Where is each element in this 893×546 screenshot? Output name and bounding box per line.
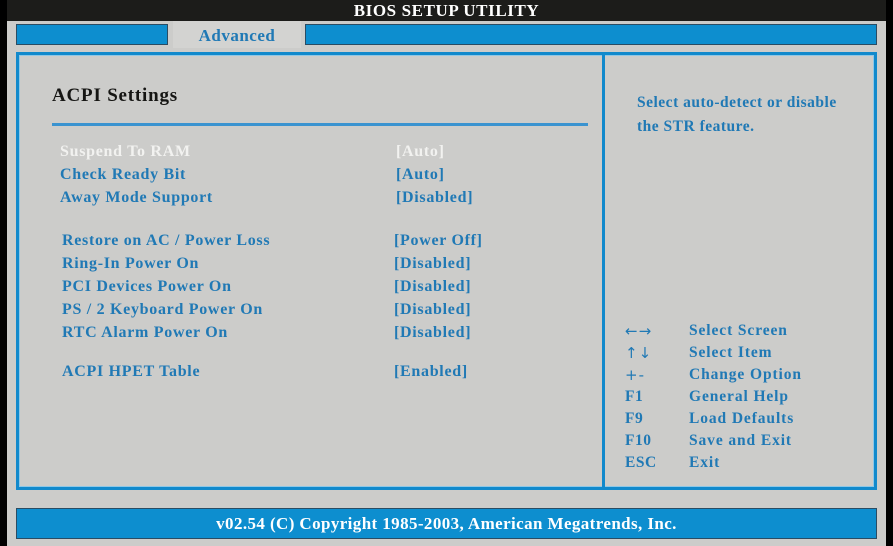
settings-group-1: Suspend To RAM[Auto]Check Ready Bit[Auto…: [52, 143, 592, 212]
setting-value[interactable]: [Disabled]: [396, 189, 473, 207]
key-legend-key: F10: [625, 432, 683, 450]
setting-label: ACPI HPET Table: [62, 363, 200, 381]
key-legend-row: F10Save and Exit: [625, 432, 873, 454]
setting-row[interactable]: Ring-In Power On[Disabled]: [52, 255, 592, 278]
key-legend-row: ↑↓Select Item: [625, 344, 873, 366]
setting-label: Ring-In Power On: [62, 255, 199, 273]
key-legend-key: ←→: [625, 322, 683, 340]
tab-strip: Advanced: [7, 21, 886, 48]
key-legend-description: Change Option: [689, 366, 802, 384]
setting-value[interactable]: [Enabled]: [394, 363, 468, 381]
setting-label: Suspend To RAM: [60, 143, 191, 161]
setting-label: Away Mode Support: [60, 189, 213, 207]
key-legend-key: ESC: [625, 454, 683, 472]
key-legend-key: F9: [625, 410, 683, 428]
setting-row[interactable]: ACPI HPET Table[Enabled]: [52, 363, 592, 386]
setting-label: PS / 2 Keyboard Power On: [62, 301, 263, 319]
setting-row[interactable]: PCI Devices Power On[Disabled]: [52, 278, 592, 301]
key-legend-key: ↑↓: [625, 344, 683, 362]
key-legend-row: ESCExit: [625, 454, 873, 476]
setting-label: Check Ready Bit: [60, 166, 186, 184]
key-legend-row: ←→Select Screen: [625, 322, 873, 344]
setting-row[interactable]: Check Ready Bit[Auto]: [52, 166, 592, 189]
key-legend-row: F9Load Defaults: [625, 410, 873, 432]
help-panel: Select auto-detect or disable the STR fe…: [605, 55, 874, 487]
setting-label: Restore on AC / Power Loss: [62, 232, 270, 250]
setting-label: PCI Devices Power On: [62, 278, 232, 296]
key-legend: ←→Select Screen↑↓Select Item+-Change Opt…: [625, 322, 873, 476]
setting-row[interactable]: RTC Alarm Power On[Disabled]: [52, 324, 592, 347]
setting-row[interactable]: PS / 2 Keyboard Power On[Disabled]: [52, 301, 592, 324]
page-title: ACPI Settings: [52, 85, 178, 107]
key-legend-description: General Help: [689, 388, 789, 406]
setting-value[interactable]: [Disabled]: [394, 324, 471, 342]
key-legend-row: F1General Help: [625, 388, 873, 410]
setting-value[interactable]: [Auto]: [396, 143, 445, 161]
key-legend-description: Select Screen: [689, 322, 788, 340]
key-legend-description: Load Defaults: [689, 410, 794, 428]
key-legend-description: Select Item: [689, 344, 773, 362]
title-underline: [52, 123, 588, 126]
setting-value[interactable]: [Auto]: [396, 166, 445, 184]
setting-row[interactable]: Restore on AC / Power Loss[Power Off]: [52, 232, 592, 255]
setting-value[interactable]: [Power Off]: [394, 232, 483, 250]
key-legend-description: Exit: [689, 454, 720, 472]
tab-bar-left-filler: [16, 24, 168, 45]
setting-row[interactable]: Away Mode Support[Disabled]: [52, 189, 592, 212]
window-title: BIOS SETUP UTILITY: [7, 0, 886, 21]
help-text: Select auto-detect or disable the STR fe…: [637, 91, 862, 139]
setting-value[interactable]: [Disabled]: [394, 301, 471, 319]
bios-setup-screen: BIOS SETUP UTILITY Advanced ACPI Setting…: [0, 0, 893, 546]
tab-bar-right-filler: [305, 24, 877, 45]
key-legend-key: +-: [625, 366, 683, 384]
setting-label: RTC Alarm Power On: [62, 324, 228, 342]
settings-panel: ACPI Settings Suspend To RAM[Auto]Check …: [19, 55, 602, 487]
footer-copyright: v02.54 (C) Copyright 1985-2003, American…: [16, 508, 877, 539]
key-legend-key: F1: [625, 388, 683, 406]
tab-advanced[interactable]: Advanced: [173, 21, 301, 48]
setting-value[interactable]: [Disabled]: [394, 278, 471, 296]
setting-row[interactable]: Suspend To RAM[Auto]: [52, 143, 592, 166]
content-frame: ACPI Settings Suspend To RAM[Auto]Check …: [16, 52, 877, 490]
settings-group-3: ACPI HPET Table[Enabled]: [52, 363, 592, 386]
key-legend-description: Save and Exit: [689, 432, 792, 450]
settings-group-2: Restore on AC / Power Loss[Power Off]Rin…: [52, 232, 592, 347]
setting-value[interactable]: [Disabled]: [394, 255, 471, 273]
key-legend-row: +-Change Option: [625, 366, 873, 388]
